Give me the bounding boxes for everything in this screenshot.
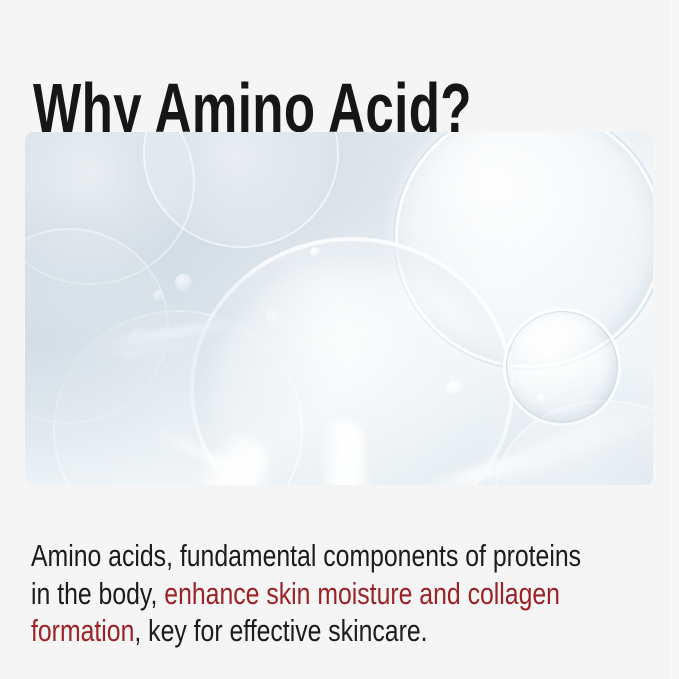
bubble-small-right (503, 308, 621, 426)
droplet-6 (310, 247, 320, 257)
droplet-2 (153, 290, 164, 301)
body-line-1: Amino acids, fundamental components of p… (31, 537, 543, 575)
droplet-9 (537, 394, 546, 403)
product-info-card: Why Amino Acid? Amino acids, fundamental… (0, 0, 679, 679)
droplet-4 (125, 350, 137, 362)
body-line-3-highlight: formation (31, 613, 134, 648)
body-line-3-text: , key for effective skincare. (134, 613, 427, 648)
droplet-5 (266, 310, 280, 324)
body-line-2-highlight: enhance skin moisture and collagen (164, 576, 560, 611)
droplet-3 (128, 328, 148, 348)
body-line-2-text: in the body, (31, 576, 164, 611)
page-right-edge (667, 0, 679, 679)
body-line-1-text: Amino acids, fundamental components of p… (31, 538, 581, 573)
body-paragraph: Amino acids, fundamental components of p… (31, 537, 543, 650)
body-line-3: formation, key for effective skincare. (31, 612, 543, 650)
hero-image (25, 132, 653, 485)
droplet-1 (175, 274, 192, 291)
droplet-7 (447, 380, 462, 395)
body-line-2: in the body, enhance skin moisture and c… (31, 575, 543, 613)
